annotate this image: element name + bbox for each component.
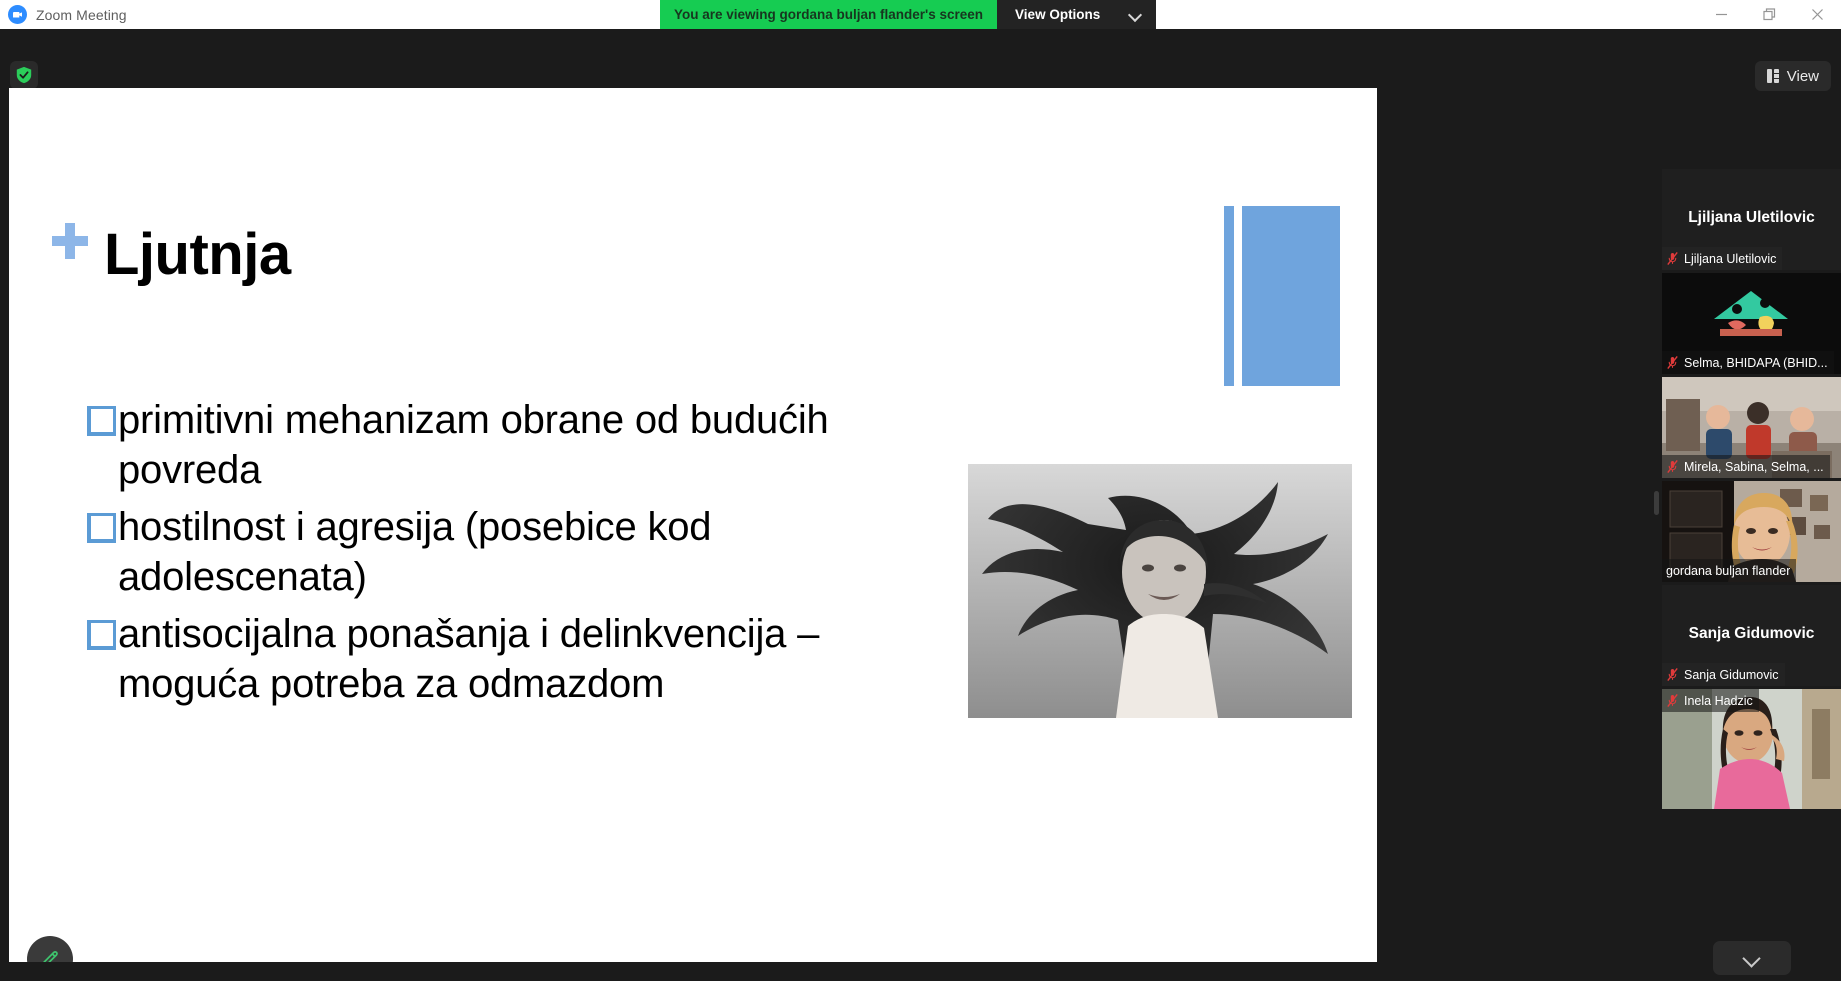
participant-name: gordana buljan flander (1666, 564, 1790, 578)
grid-layout-icon (1767, 69, 1779, 83)
participant-strip[interactable]: Ljiljana Uletilovic Ljiljana Uletilovic (1662, 169, 1841, 981)
screen-share-banner: You are viewing gordana buljan flander's… (660, 0, 997, 29)
shared-screen-slide: Ljutnja primitivni mehanizam obrane od b… (9, 88, 1377, 962)
participant-name: Inela Hadzic (1684, 694, 1753, 708)
bullet-text: antisocijalna ponašanja i delinkvencija … (118, 610, 967, 709)
plus-icon (52, 223, 88, 259)
participant-name-bar: Ljiljana Uletilovic (1662, 247, 1782, 270)
slide-title: Ljutnja (104, 221, 291, 288)
checkbox-bullet-icon (87, 513, 116, 543)
participant-tile[interactable]: Sanja Gidumovic Sanja Gidumovic (1662, 585, 1841, 686)
slide-photo (968, 464, 1352, 718)
window-controls (1697, 0, 1841, 29)
mic-muted-icon (1666, 355, 1679, 370)
participant-name-bar: Selma, BHIDAPA (BHID... (1662, 351, 1834, 374)
participant-name: Ljiljana Uletilovic (1684, 252, 1776, 266)
pen-icon (39, 948, 61, 962)
restore-button[interactable] (1745, 0, 1793, 29)
zoom-meeting-window: Zoom Meeting You are viewing gordana bul… (0, 0, 1841, 981)
meeting-body: View Ljutnja primitivni mehanizam obrane… (0, 29, 1841, 981)
participant-tile[interactable]: Selma, BHIDAPA (BHID... (1662, 273, 1841, 374)
mic-muted-icon (1666, 459, 1679, 474)
checkbox-bullet-icon (87, 620, 116, 650)
chevron-down-icon (1130, 9, 1141, 20)
participant-name: Selma, BHIDAPA (BHID... (1684, 356, 1828, 370)
title-bar: Zoom Meeting You are viewing gordana bul… (0, 0, 1841, 29)
participant-name-bar: Sanja Gidumovic (1662, 663, 1785, 686)
bullet-text: primitivni mehanizam obrane od budućih p… (118, 396, 967, 495)
view-layout-button[interactable]: View (1755, 61, 1831, 91)
participant-name: Sanja Gidumovic (1684, 668, 1779, 682)
view-button-label: View (1787, 68, 1819, 85)
close-button[interactable] (1793, 0, 1841, 29)
participant-tile-active-speaker[interactable]: gordana buljan flander (1662, 481, 1841, 582)
checkbox-bullet-icon (87, 406, 116, 436)
minimize-button[interactable] (1697, 0, 1745, 29)
view-options-label: View Options (1015, 7, 1100, 22)
list-item: primitivni mehanizam obrane od budućih p… (87, 396, 967, 495)
participant-name-bar: gordana buljan flander (1662, 559, 1796, 582)
participant-tile[interactable]: Inela Hadzic (1662, 689, 1841, 809)
participant-tile[interactable]: Ljiljana Uletilovic Ljiljana Uletilovic (1662, 169, 1841, 270)
chevron-down-icon (1744, 951, 1759, 966)
participant-name-bar: Mirela, Sabina, Selma, ... (1662, 455, 1830, 478)
mic-muted-icon (1666, 667, 1679, 682)
participant-tile[interactable]: Mirela, Sabina, Selma, ... (1662, 377, 1841, 478)
bullet-text: hostilnost i agresija (posebice kod adol… (118, 503, 967, 602)
security-shield-icon[interactable] (10, 61, 38, 89)
participant-name: Mirela, Sabina, Selma, ... (1684, 460, 1824, 474)
title-bar-left: Zoom Meeting (0, 5, 660, 24)
decoration-bar (1224, 206, 1234, 386)
view-options-button[interactable]: View Options (997, 0, 1156, 29)
scroll-down-button[interactable] (1713, 941, 1791, 975)
participant-display-name: Ljiljana Uletilovic (1662, 209, 1841, 227)
decoration-block (1242, 206, 1340, 386)
annotate-button[interactable] (27, 936, 73, 962)
participant-display-name: Sanja Gidumovic (1662, 625, 1841, 643)
app-title: Zoom Meeting (36, 7, 127, 23)
list-item: antisocijalna ponašanja i delinkvencija … (87, 610, 967, 709)
mic-muted-icon (1666, 693, 1679, 708)
participant-name-bar: Inela Hadzic (1662, 689, 1759, 712)
list-item: hostilnost i agresija (posebice kod adol… (87, 503, 967, 602)
slide-bullet-list: primitivni mehanizam obrane od budućih p… (87, 396, 967, 718)
strip-drag-handle[interactable] (1654, 491, 1659, 515)
mic-muted-icon (1666, 251, 1679, 266)
zoom-logo-icon (8, 5, 27, 24)
